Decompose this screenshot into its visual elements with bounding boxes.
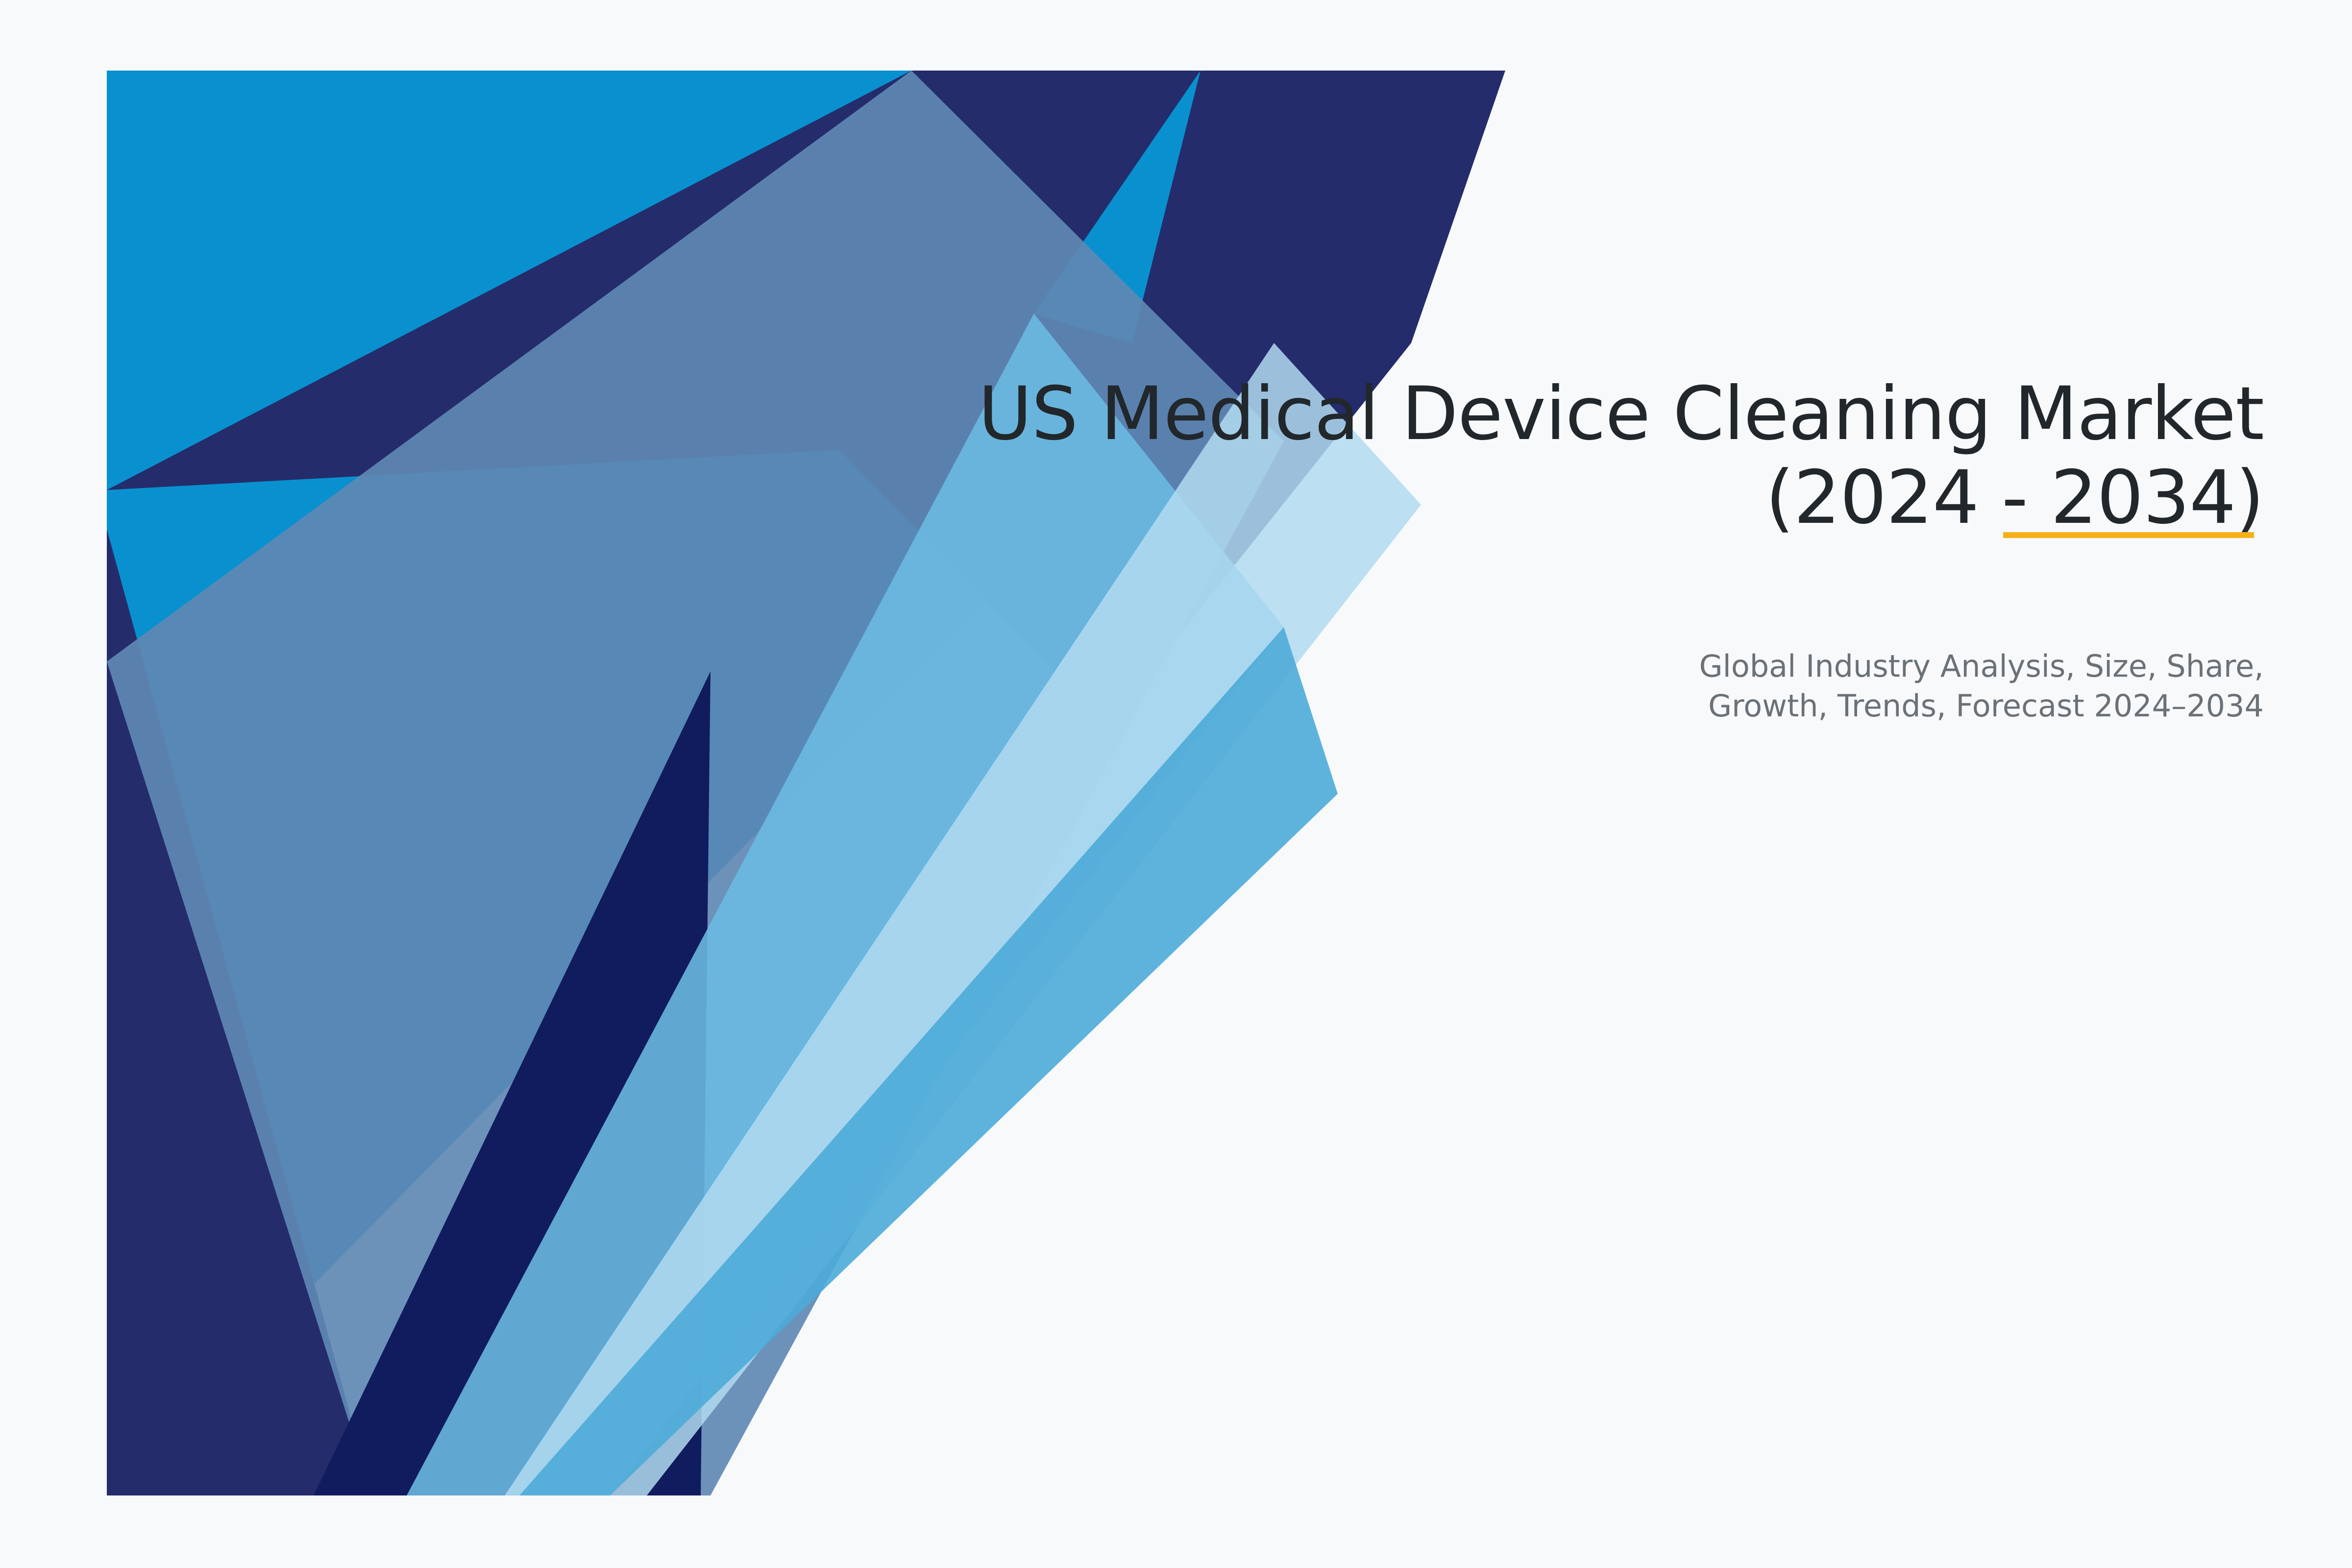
cover-text-block: US Medical Device Cleaning Market (2024 … bbox=[833, 372, 2264, 540]
cover-page: US Medical Device Cleaning Market (2024 … bbox=[0, 0, 2352, 1568]
artwork-shape-group bbox=[107, 71, 1505, 1495]
page-subtitle: Global Industry Analysis, Size, Share, G… bbox=[1421, 647, 2264, 726]
abstract-geometric-artwork bbox=[0, 0, 2352, 1568]
title-underline-accent bbox=[2003, 532, 2254, 538]
page-title: US Medical Device Cleaning Market (2024 … bbox=[833, 372, 2264, 540]
